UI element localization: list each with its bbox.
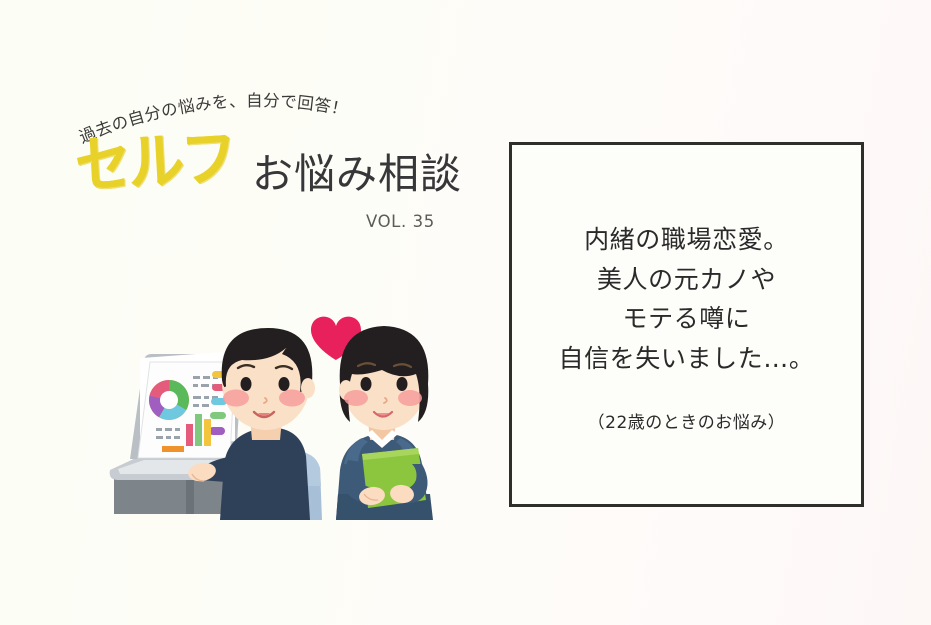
masthead: 過去の自分の悩みを、自分で回答！ セルフ お悩み相談 VOL. 35 (70, 88, 470, 253)
office-couple-illustration (100, 288, 450, 520)
logo-accent-self: セルフ (75, 127, 248, 198)
quote-line: モテる噂に (558, 299, 814, 339)
quote-lines: 内緒の職場恋愛。 美人の元カノや モテる噂に 自信を失いました…。 (558, 220, 814, 378)
quote-line: 内緒の職場恋愛。 (558, 220, 814, 260)
volume-label: VOL. 35 (366, 212, 435, 231)
quote-line: 美人の元カノや (558, 260, 814, 300)
quote-subtext: （22歳のときのお悩み） (588, 408, 786, 433)
quote-line: 自信を失いました…。 (558, 339, 814, 379)
laptop-donut-chart (149, 380, 189, 420)
woman-figure (336, 326, 433, 520)
logo-main-title: お悩み相談 (252, 154, 462, 198)
page-root: 過去の自分の悩みを、自分で回答！ セルフ お悩み相談 VOL. 35 内緒の職場… (0, 0, 931, 625)
quote-box: 内緒の職場恋愛。 美人の元カノや モテる噂に 自信を失いました…。 （22歳のと… (509, 142, 864, 507)
logo-row: セルフ お悩み相談 (78, 146, 462, 198)
